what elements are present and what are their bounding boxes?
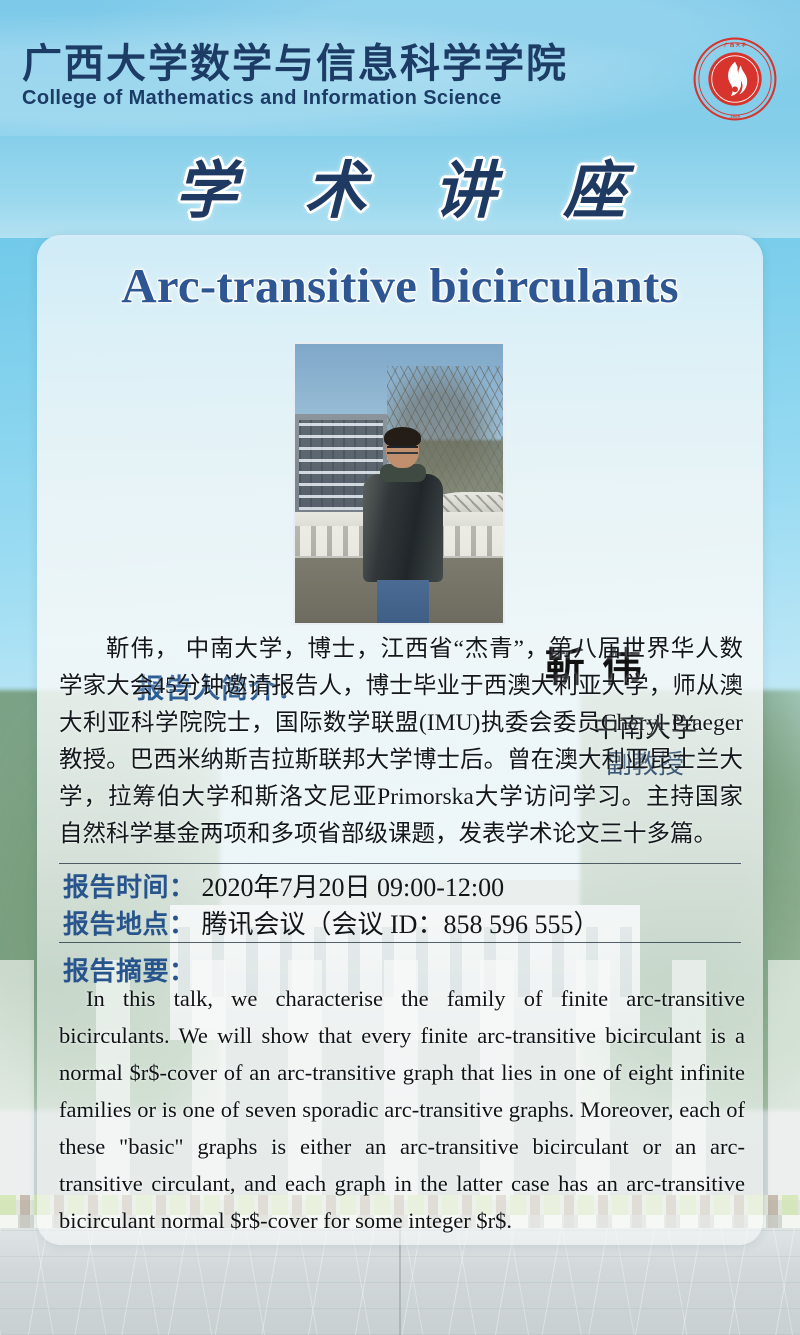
speaker-photo <box>293 342 505 625</box>
talk-place-row: 报告地点：腾讯会议（会议 ID：858 596 555） <box>63 911 599 938</box>
abstract-body: In this talk, we characterise the family… <box>59 980 745 1239</box>
divider-above-info <box>59 863 741 864</box>
school-name-cn: 广西大学数学与信息科学学院 <box>22 42 568 85</box>
photo-person-glasses <box>387 446 418 454</box>
talk-place-label: 报告地点： <box>63 909 196 939</box>
photo-person <box>359 430 445 625</box>
divider-below-info <box>59 942 741 943</box>
talk-time-label: 报告时间： <box>63 872 196 902</box>
photo-person-hair <box>384 427 421 448</box>
talk-title: Arc-transitive bicirculants <box>37 257 763 314</box>
talk-time-row: 报告时间：2020年7月20日 09:00-12:00 <box>63 874 504 901</box>
speaker-biography: 靳伟， 中南大学，博士，江西省“杰青”，第八届世界华人数学家大会45分钟邀请报告… <box>59 631 743 853</box>
institution-header: 广西大学数学与信息科学学院 College of Mathematics and… <box>22 42 568 110</box>
svg-text:1928: 1928 <box>730 114 740 119</box>
talk-place-value: 腾讯会议（会议 ID：858 596 555） <box>196 910 600 939</box>
school-name-en: College of Mathematics and Information S… <box>22 87 568 110</box>
photo-person-jacket <box>363 474 443 582</box>
photo-person-jeans <box>377 580 429 625</box>
talk-time-value: 2020年7月20日 09:00-12:00 <box>196 873 505 902</box>
banner-title: 学 术 讲 座 <box>0 140 800 230</box>
svg-text:广 西 大 学: 广 西 大 学 <box>724 41 746 48</box>
seminar-poster: 广西大学数学与信息科学学院 College of Mathematics and… <box>0 0 800 1335</box>
poster-card: Arc-transitive bicirculants 报告人简介： 靳 伟 中… <box>37 235 763 1245</box>
university-seal-icon: 广 西 大 学 1928 <box>692 36 778 122</box>
